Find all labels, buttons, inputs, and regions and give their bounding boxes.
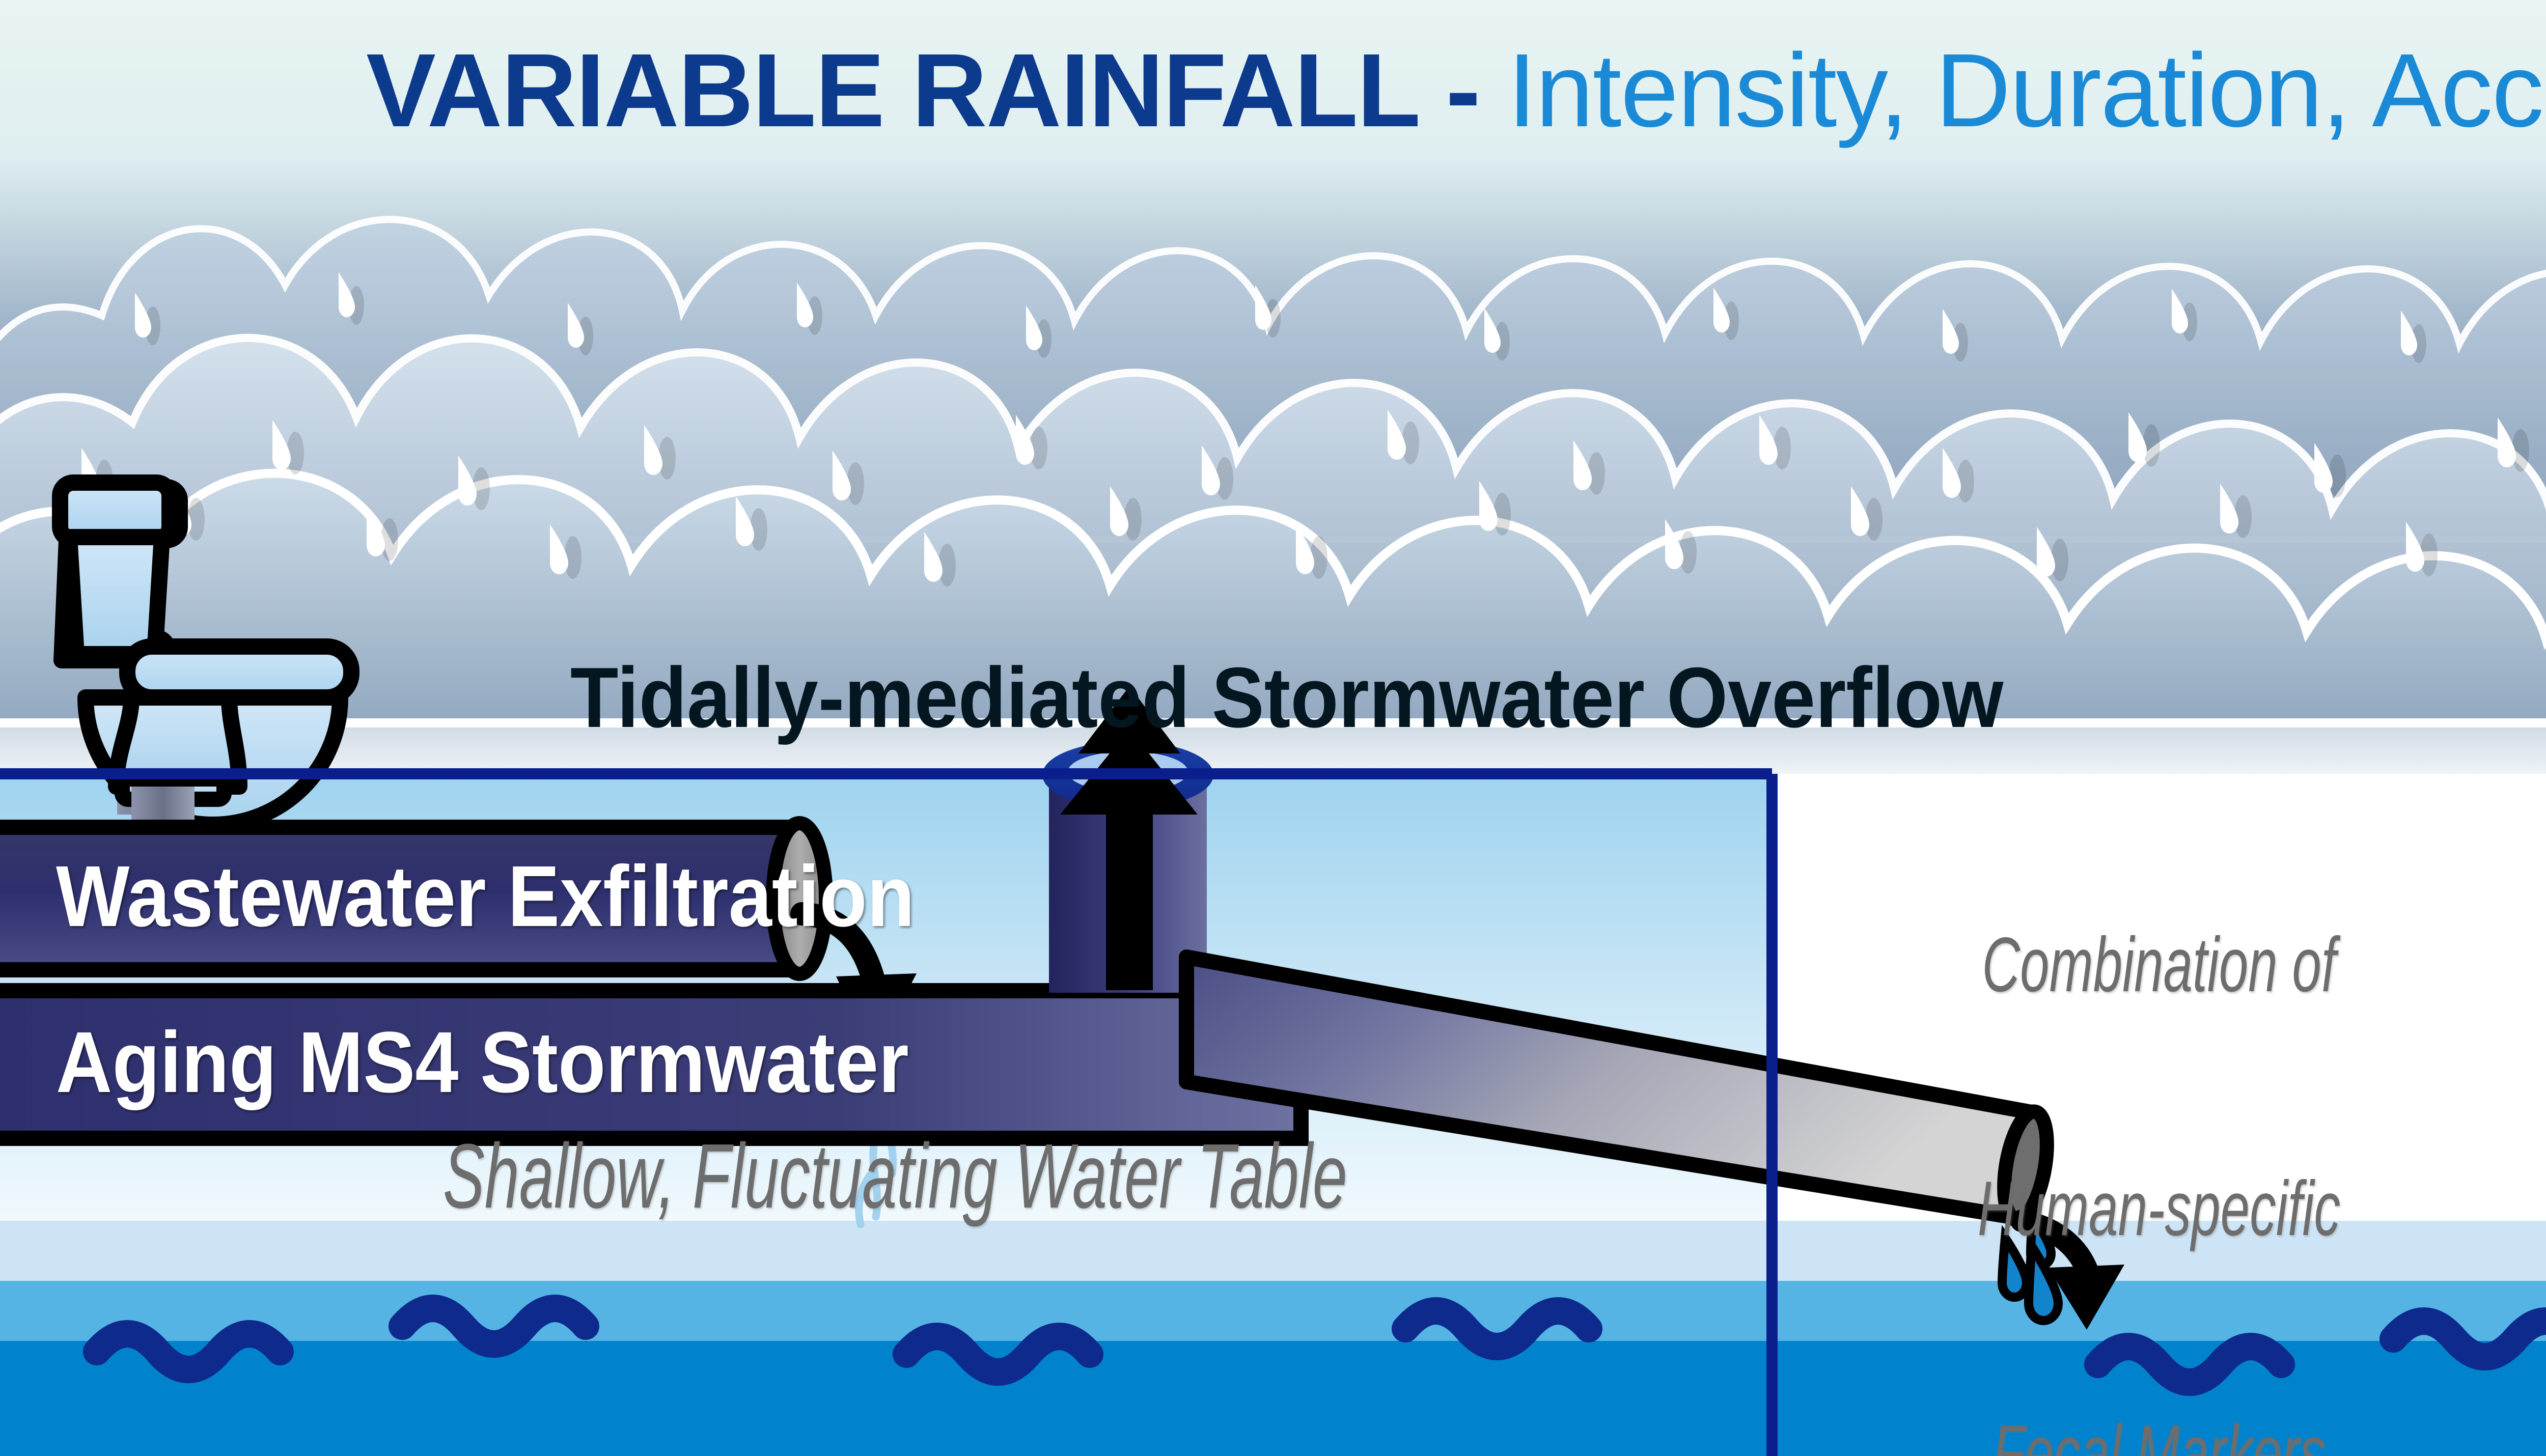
title-light-part: Intensity, Duration, Accumulation bbox=[1508, 32, 2546, 149]
heading-stormwater-overflow: Tidally-mediated Stormwater Overflow bbox=[570, 653, 2003, 742]
note-markers-line-1: Combination of bbox=[1943, 925, 2375, 1006]
page-title: VARIABLE RAINFALL - Intensity, Duration,… bbox=[0, 31, 2546, 151]
title-bold-part: VARIABLE RAINFALL - bbox=[366, 32, 1508, 149]
note-water-table: Shallow, Fluctuating Water Table bbox=[443, 1128, 1347, 1224]
note-markers-line-3: Fecal Markers bbox=[1943, 1412, 2375, 1456]
note-markers-line-2: Human-specific bbox=[1943, 1168, 2375, 1250]
label-wastewater-exfiltration: Wastewater Exfiltration bbox=[56, 851, 915, 942]
label-aging-ms4-stormwater: Aging MS4 Stormwater bbox=[56, 1017, 909, 1108]
infographic-canvas: VARIABLE RAINFALL - Intensity, Duration,… bbox=[0, 0, 2546, 1456]
